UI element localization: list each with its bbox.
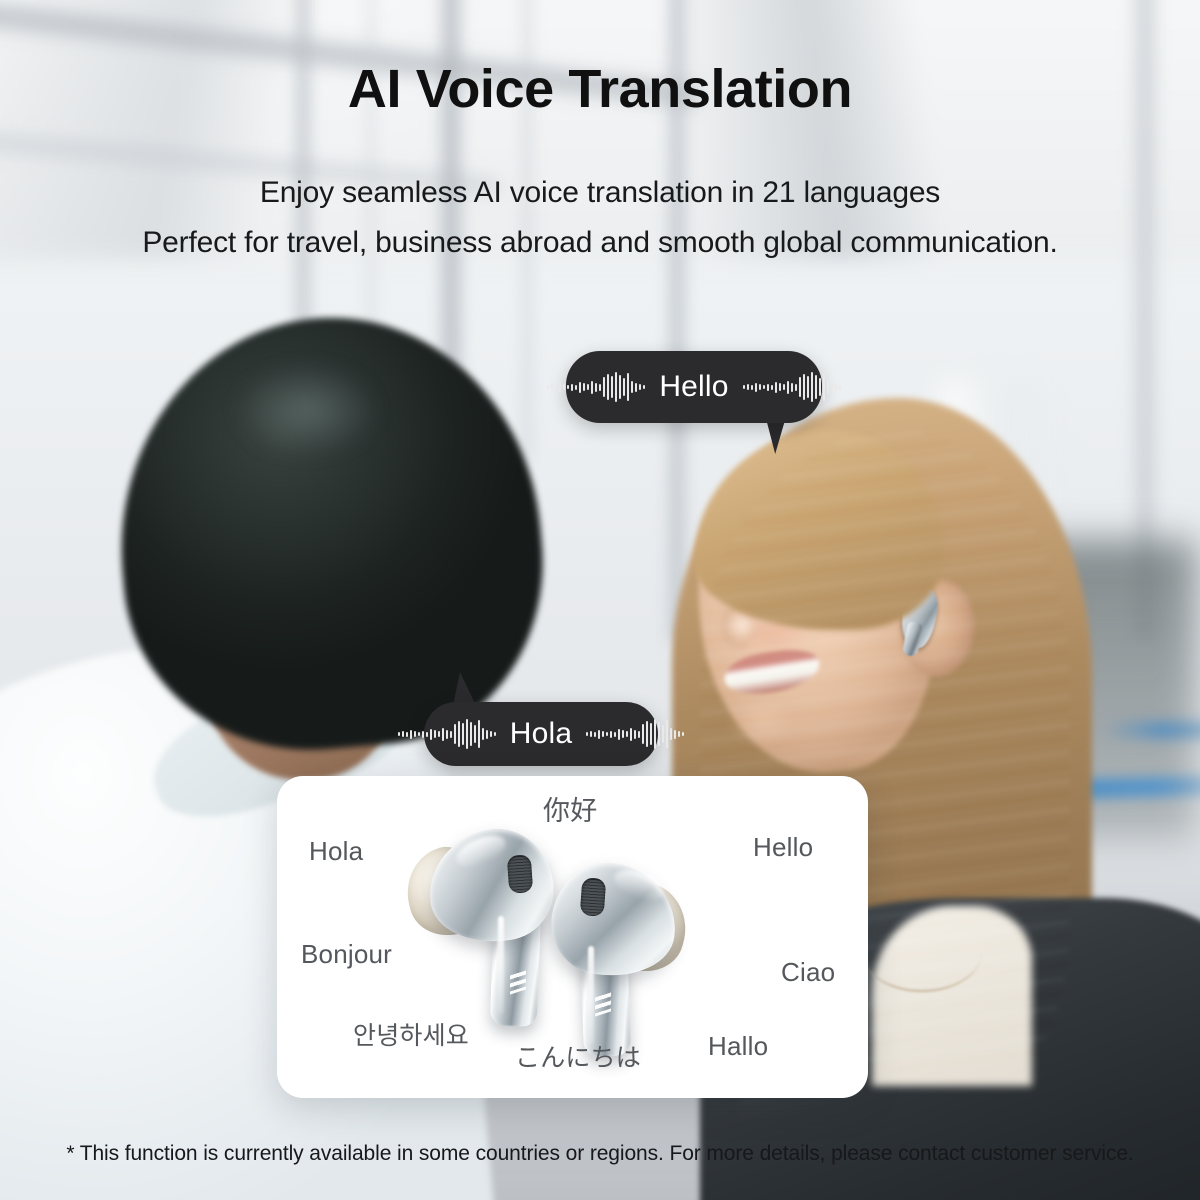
earbud-edge-light — [498, 916, 504, 1014]
man-hair-highlight — [212, 350, 402, 470]
subtitle-line-2: Perfect for travel, business abroad and … — [0, 218, 1200, 268]
greeting-bonjour: Bonjour — [301, 939, 392, 970]
speech-bubble-hola-text: Hola — [510, 717, 573, 751]
footnote-disclaimer: * This function is currently available i… — [0, 1142, 1200, 1166]
greeting-hello: Hello — [753, 832, 813, 863]
greeting-hola: Hola — [309, 836, 363, 867]
promo-banner: AI Voice Translation Enjoy seamless AI v… — [0, 0, 1200, 1200]
subtitle-line-1: Enjoy seamless AI voice translation in 2… — [0, 168, 1200, 218]
waveform-icon — [586, 717, 684, 751]
page-title: AI Voice Translation — [0, 58, 1200, 120]
greeting-konnichiwa: こんにちは — [515, 1038, 641, 1074]
greeting-hallo: Hallo — [708, 1031, 768, 1062]
greeting-annyeonghaseyo: 안녕하세요 — [353, 1016, 469, 1052]
background-blue-accent — [1102, 722, 1200, 738]
waveform-icon — [398, 717, 496, 751]
microphone-grille-icon — [580, 877, 607, 917]
subtitle: Enjoy seamless AI voice translation in 2… — [0, 168, 1200, 268]
greeting-ciao: Ciao — [781, 957, 835, 988]
waveform-icon — [547, 370, 645, 404]
earbud-edge-light — [588, 946, 594, 1044]
speech-bubble-hello-text: Hello — [659, 370, 728, 404]
microphone-grille-icon — [507, 854, 534, 894]
waveform-icon — [743, 370, 841, 404]
greeting-nihao: 你好 — [543, 789, 597, 828]
speech-bubble-hola: Hola — [424, 702, 658, 766]
speech-bubble-hello: Hello — [566, 351, 822, 423]
product-card: 你好 Hola Hello Bonjour Ciao 안녕하세요 こんにちは H… — [277, 776, 868, 1098]
